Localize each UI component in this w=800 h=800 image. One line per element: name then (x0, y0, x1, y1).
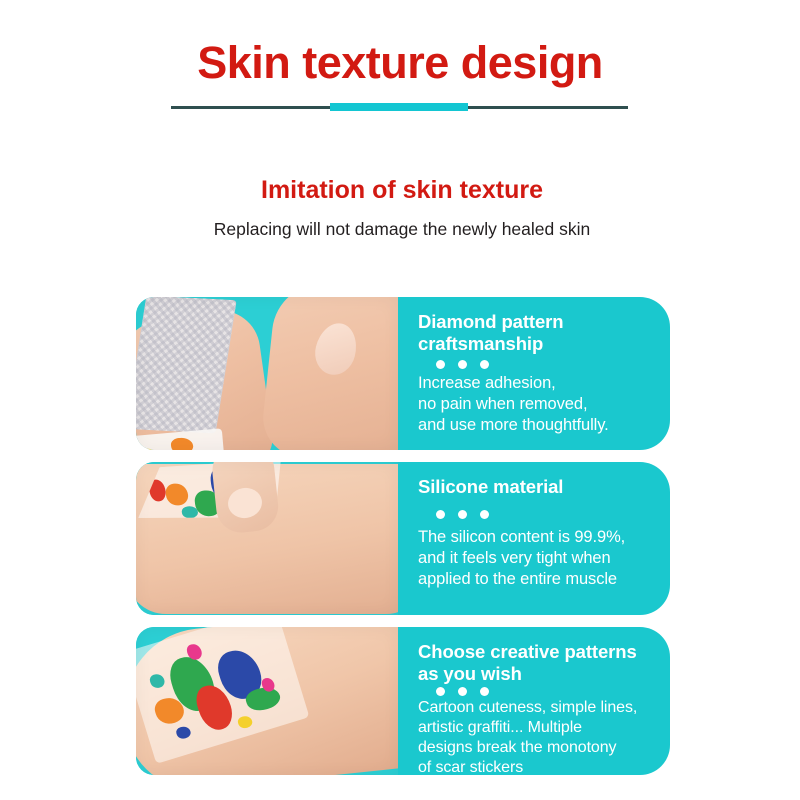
feature-photo-silicone-material (136, 462, 398, 615)
feature-card: Choose creative patterns as you wish Car… (136, 627, 670, 775)
dino-motif (149, 672, 166, 689)
headline-card-subtitle: Replacing will not damage the newly heal… (207, 218, 597, 241)
page-header: Skin texture design (0, 38, 800, 88)
dot-separator (436, 687, 660, 696)
dino-motif (170, 437, 193, 450)
feature-card-text: Diamond pattern craftsmanship Increase a… (398, 297, 670, 450)
dino-motif (165, 482, 189, 506)
feature-card-title: Choose creative patterns as you wish (418, 641, 660, 685)
feature-photo-diamond-pattern (136, 297, 398, 450)
feature-card-text: Choose creative patterns as you wish Car… (398, 627, 670, 775)
dino-motif (175, 725, 192, 741)
feature-card-body: The silicon content is 99.9%, and it fee… (418, 527, 660, 590)
headline-card: Imitation of skin texture Replacing will… (207, 143, 597, 280)
dot-separator (436, 360, 660, 369)
feature-card-body: Increase adhesion, no pain when removed,… (418, 373, 660, 436)
feature-photo-creative-patterns (136, 627, 398, 775)
page-title: Skin texture design (0, 38, 800, 88)
dino-motif (141, 448, 156, 450)
feature-card: Diamond pattern craftsmanship Increase a… (136, 297, 670, 450)
headline-card-title: Imitation of skin texture (207, 175, 597, 206)
dot-separator (436, 510, 660, 519)
feature-card: Silicone material The silicon content is… (136, 462, 670, 615)
title-divider-accent (330, 103, 468, 111)
dino-motif (237, 714, 254, 730)
dino-motif (181, 505, 198, 519)
feature-card-body: Cartoon cuteness, simple lines, artistic… (418, 698, 660, 775)
feature-card-text: Silicone material The silicon content is… (398, 462, 670, 615)
feature-card-title: Diamond pattern craftsmanship (418, 311, 660, 355)
feature-card-title: Silicone material (418, 476, 660, 498)
